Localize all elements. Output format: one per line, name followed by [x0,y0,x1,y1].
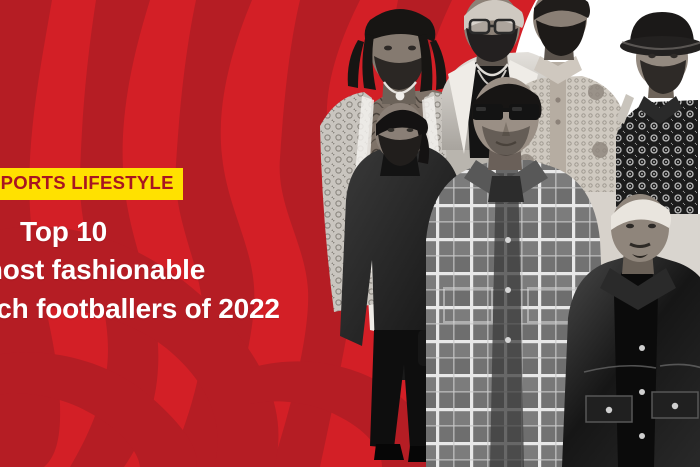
banner-text-block: SPORTS LIFESTYLE Top 10 most fashionable… [0,168,278,328]
headline-line-3: rich footballers of 2022 [0,290,278,329]
footballer-photo-collage [300,0,700,467]
headline-line-1: Top 10 [0,213,278,252]
page-title: Top 10 most fashionable rich footballers… [0,213,278,329]
category-badge: SPORTS LIFESTYLE [0,168,183,200]
headline-line-2: most fashionable [0,251,278,290]
sports-lifestyle-banner: SPORTS LIFESTYLE Top 10 most fashionable… [0,0,700,467]
